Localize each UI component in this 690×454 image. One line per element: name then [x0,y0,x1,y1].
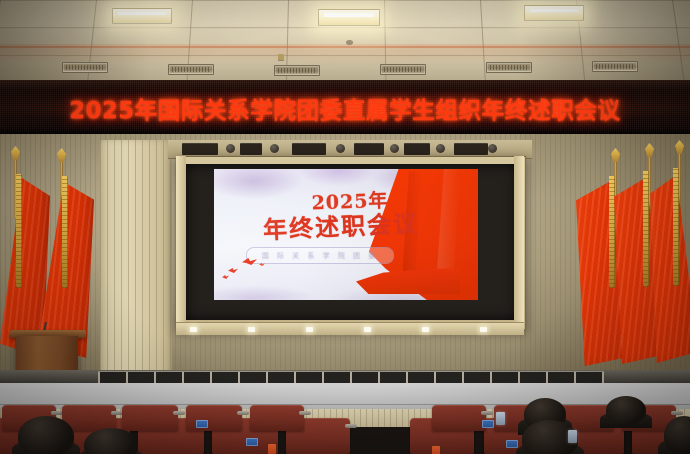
ceiling-vent [592,61,638,72]
ledge-light [480,327,487,332]
flag-tassel [673,168,679,286]
seat-armrest [237,411,249,415]
phone-screen [568,430,577,443]
seat-armrest [299,411,311,415]
auditorium-photo: 2025年国际关系学院团委直属学生组织年终述职会议 2025年 年终述职会议 国… [0,0,690,454]
ceiling-vent [486,62,532,73]
ledge-light [248,327,255,332]
valance-speaker-box [292,143,326,155]
seat-armrest [671,411,683,415]
flag-tassel [62,176,68,288]
wall-column-left [100,140,172,380]
cup-object [432,446,440,454]
valance-speaker-box [182,143,218,155]
valance-speaker-box [404,143,430,155]
ceiling-light [524,5,584,21]
ledge-light [306,327,313,332]
audience-head [664,416,690,454]
screen-ledge [176,322,524,335]
ceiling-vent [168,64,214,75]
auditorium-seat [122,405,178,431]
phone-screen [496,412,505,425]
ceiling-vent [62,62,108,73]
seat-number-tag [506,440,518,448]
screen-frame-left-edge [176,156,186,328]
ceiling-light [318,9,380,26]
seat-armrest [481,411,493,415]
auditorium-seat [432,405,486,431]
audience-head [18,416,74,454]
audience-head [84,428,138,454]
auditorium-seat [186,405,242,431]
ceiling-light [112,8,172,24]
ledge-light [190,327,197,332]
valance-speaker-box [354,143,384,155]
ceiling-vent [380,64,426,75]
ceiling-speaker-icon [278,54,284,60]
seat-number-tag [482,420,494,428]
seat-armrest [345,424,357,428]
audience-head [606,396,646,424]
seat-number-tag [196,420,208,428]
flag-tassel [16,174,22,288]
led-banner: 2025年国际关系学院团委直属学生组织年终述职会议 [0,80,690,136]
ceiling [0,0,690,82]
valance-spotlight [226,144,235,153]
ledge-light [364,327,371,332]
valance-speaker-box [454,143,488,155]
ledge-light [422,327,429,332]
flag-tassel [609,176,615,288]
seat-number-tag [246,438,258,446]
ceiling-vent [274,65,320,76]
valance-spotlight [390,144,399,153]
auditorium-seat [250,405,304,431]
flag-tassel [643,171,649,287]
cup-object [268,444,276,454]
valance-spotlight [436,144,445,153]
smoke-detector-icon [346,40,353,44]
valance-spotlight [336,144,345,153]
seat-armrest [173,411,185,415]
valance-speaker-box [240,143,262,155]
valance-spotlight [270,144,279,153]
audience-seating [0,404,690,454]
projected-slide: 2025年 年终述职会议 国 际 关 系 学 院 团 委 [214,169,478,300]
slide-glare [214,169,478,300]
screen-frame-right-edge [514,156,524,328]
valance-spotlight [488,144,497,153]
